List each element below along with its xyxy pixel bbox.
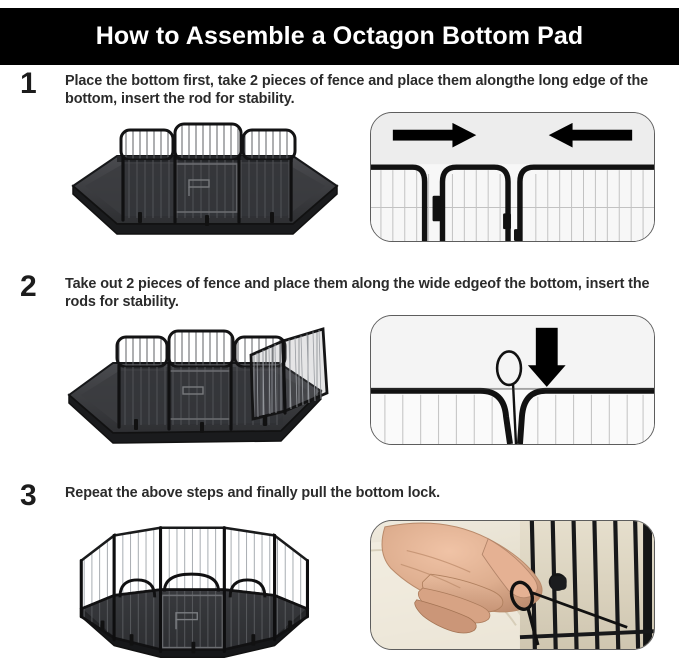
fence-panels-sliding-together-diagram — [371, 113, 654, 241]
step-3-instruction-text: Repeat the above steps and finally pull … — [65, 484, 660, 502]
step-3-number: 3 — [20, 481, 37, 511]
step-2-number: 2 — [20, 272, 37, 302]
completed-octagon-playpen-illustration — [55, 520, 355, 665]
step-2: 2 Take out 2 pieces of fence and place t… — [0, 275, 679, 473]
octagon-pad-four-panels-illustration — [55, 315, 355, 460]
page-title: How to Assemble a Octagon Bottom Pad — [96, 22, 583, 51]
hand-pulling-bottom-lock-photo — [371, 521, 654, 649]
step-3-product-render — [55, 520, 355, 665]
step-2-illustrations — [0, 315, 679, 465]
step-1-detail-box — [370, 112, 655, 242]
step-1: 1 Place the bottom first, take 2 pieces … — [0, 72, 679, 270]
step-3-heading: 3 Repeat the above steps and finally pul… — [0, 480, 679, 520]
octagon-pad-two-panels-illustration — [55, 112, 355, 257]
step-3-detail-photo — [370, 520, 655, 650]
step-2-detail-box — [370, 315, 655, 445]
header-bar: How to Assemble a Octagon Bottom Pad — [0, 8, 679, 65]
rod-insertion-diagram — [371, 316, 654, 444]
step-1-instruction-text: Place the bottom first, take 2 pieces of… — [65, 72, 660, 109]
step-2-product-render — [55, 315, 355, 460]
step-1-number: 1 — [20, 69, 37, 99]
step-2-heading: 2 Take out 2 pieces of fence and place t… — [0, 275, 679, 315]
step-2-instruction-text: Take out 2 pieces of fence and place the… — [65, 275, 660, 312]
step-3-illustrations — [0, 520, 679, 670]
step-1-heading: 1 Place the bottom first, take 2 pieces … — [0, 72, 679, 112]
step-3: 3 Repeat the above steps and finally pul… — [0, 480, 679, 660]
step-1-illustrations — [0, 112, 679, 262]
instruction-sheet: How to Assemble a Octagon Bottom Pad 1 P… — [0, 0, 679, 663]
step-1-product-render — [55, 112, 355, 257]
